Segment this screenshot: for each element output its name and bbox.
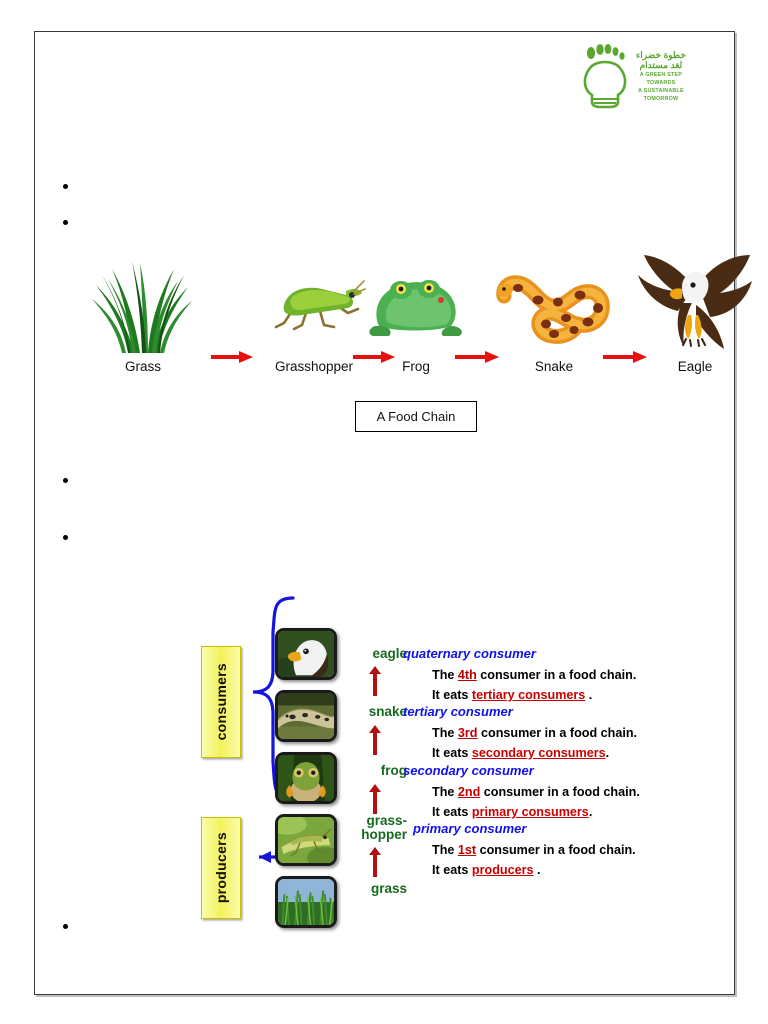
logo-english-line-4: TOMORROW <box>644 96 679 102</box>
producers-label: producers <box>213 832 229 903</box>
grass-photo <box>275 876 337 928</box>
tier-desc-quaternary-line1: The 4th consumer in a food chain. <box>432 668 636 682</box>
eagle-icon <box>633 257 757 353</box>
text-post: consumer in a food chain. <box>476 843 636 857</box>
tier-role-quaternary: quaternary consumer <box>403 646 536 661</box>
text-post: . <box>589 805 593 819</box>
tier-role-tertiary: tertiary consumer <box>403 704 513 719</box>
tier-name-snake: snake <box>345 705 407 719</box>
tier-arrow-frog-to-snake-icon <box>369 725 381 755</box>
green-footprint-bulb-icon <box>576 42 632 110</box>
text-pre: The <box>432 726 458 740</box>
chain-arrow-1-icon <box>211 350 253 364</box>
tier-name-eagle: eagle <box>345 647 407 661</box>
term: primary consumers <box>472 805 589 819</box>
text-pre: The <box>432 843 458 857</box>
chain-label-eagle: Eagle <box>633 359 757 374</box>
tier-desc-tertiary-line2: It eats secondary consumers. <box>432 746 609 760</box>
chain-item-grass: Grass <box>83 257 203 374</box>
text-post: consumer in a food chain. <box>478 726 638 740</box>
tier-desc-primary-line1: The 1st consumer in a food chain. <box>432 843 636 857</box>
tier-arrow-snake-to-eagle-icon <box>369 666 381 696</box>
food-chain-caption-box: A Food Chain <box>355 401 477 432</box>
trophic-level-diagram: consumers producers <box>195 592 715 922</box>
eagle-photo <box>275 628 337 680</box>
snake-icon <box>491 257 617 353</box>
ordinal: 4th <box>458 668 477 682</box>
organization-logo: خطوة خضراء لغد مستدام A GREEN STEP TOWAR… <box>576 40 726 112</box>
frog-photo <box>275 752 337 804</box>
tier-desc-tertiary-line1: The 3rd consumer in a food chain. <box>432 726 637 740</box>
tier-desc-primary-line2: It eats producers . <box>432 863 541 877</box>
text-pre: It eats <box>432 863 472 877</box>
text-pre: It eats <box>432 688 472 702</box>
bullet-5 <box>63 924 68 929</box>
term: secondary consumers <box>472 746 606 760</box>
grass-icon <box>83 257 203 353</box>
logo-english-line-2: TOWARDS <box>647 80 676 86</box>
bullet-1 <box>63 184 68 189</box>
ordinal: 2nd <box>458 785 480 799</box>
chain-item-snake: Snake <box>491 257 617 374</box>
text-pre: The <box>432 668 458 682</box>
text-pre: The <box>432 785 458 799</box>
chain-label-grass: Grass <box>83 359 203 374</box>
ordinal: 1st <box>458 843 476 857</box>
bullet-3 <box>63 478 68 483</box>
text-post: . <box>606 746 610 760</box>
tier-name-grasshopper: grass- hopper <box>335 814 407 842</box>
text-post: . <box>534 863 541 877</box>
grasshopper-photo <box>275 814 337 866</box>
text-pre: It eats <box>432 805 472 819</box>
bullet-2 <box>63 220 68 225</box>
text-post: consumer in a food chain. <box>480 785 640 799</box>
chain-label-snake: Snake <box>491 359 617 374</box>
frog-icon <box>355 257 477 353</box>
tier-role-secondary: secondary consumer <box>403 763 534 778</box>
producers-label-box: producers <box>201 817 241 919</box>
document-page: خطوة خضراء لغد مستدام A GREEN STEP TOWAR… <box>34 31 735 995</box>
tier-name-frog: frog <box>345 764 407 778</box>
snake-photo <box>275 690 337 742</box>
consumers-label-box: consumers <box>201 646 241 758</box>
ordinal: 3rd <box>458 726 478 740</box>
bullet-4 <box>63 535 68 540</box>
logo-english-line-3: A SUSTAINABLE <box>638 88 684 94</box>
tier-desc-secondary-line2: It eats primary consumers. <box>432 805 592 819</box>
text-pre: It eats <box>432 746 472 760</box>
logo-arabic-line-2: لغد مستدام <box>640 60 683 70</box>
tier-role-primary: primary consumer <box>413 821 526 836</box>
tier-desc-quaternary-line2: It eats tertiary consumers . <box>432 688 592 702</box>
text-post: consumer in a food chain. <box>477 668 637 682</box>
consumers-label: consumers <box>213 663 229 740</box>
food-chain-caption: A Food Chain <box>377 409 456 424</box>
logo-text-block: خطوة خضراء لغد مستدام A GREEN STEP TOWAR… <box>636 50 686 102</box>
tier-arrow-grass-to-grasshopper-icon <box>369 847 381 877</box>
tier-name-grass: grass <box>345 882 407 896</box>
chain-item-eagle: Eagle <box>633 257 757 374</box>
tier-desc-secondary-line1: The 2nd consumer in a food chain. <box>432 785 640 799</box>
logo-arabic-line-1: خطوة خضراء <box>636 50 686 60</box>
term: tertiary consumers <box>472 688 585 702</box>
text-post: . <box>585 688 592 702</box>
logo-english-line-1: A GREEN STEP <box>640 72 682 78</box>
tier-arrow-grasshopper-to-frog-icon <box>369 784 381 814</box>
term: producers <box>472 863 534 877</box>
